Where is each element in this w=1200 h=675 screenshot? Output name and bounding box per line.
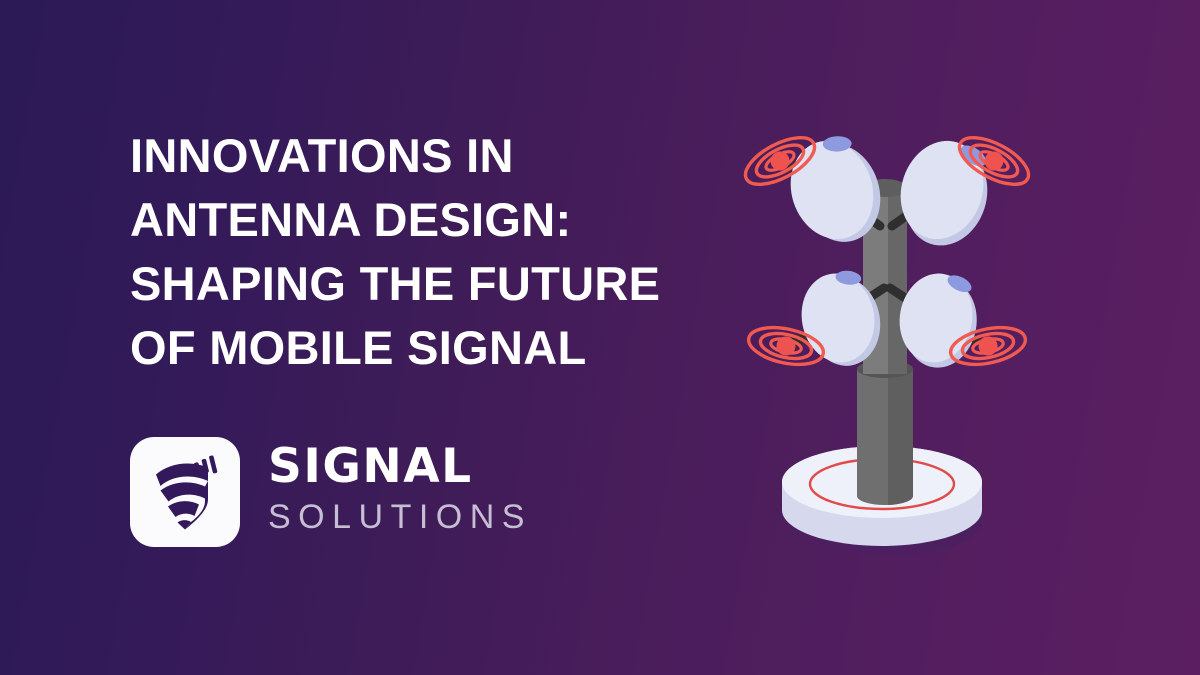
page-title: INNOVATIONS IN ANTENNA DESIGN: SHAPING T…	[130, 124, 720, 380]
logo-badge	[130, 437, 240, 547]
signal-shield-wifi-icon	[146, 450, 224, 535]
antenna-tower-illustration	[740, 128, 1080, 590]
headline-line-1: INNOVATIONS IN	[130, 124, 720, 188]
mast-lower	[857, 360, 913, 505]
logo-wordmark: SIGNAL SOLUTIONS	[268, 444, 532, 541]
headline-block: INNOVATIONS IN ANTENNA DESIGN: SHAPING T…	[130, 124, 720, 380]
headline-line-2: ANTENNA DESIGN:	[130, 188, 720, 252]
brand-name: SIGNAL	[268, 444, 532, 490]
headline-line-3: SHAPING THE FUTURE	[130, 252, 720, 316]
brand-tagline: SOLUTIONS	[268, 496, 532, 539]
banner-canvas: INNOVATIONS IN ANTENNA DESIGN: SHAPING T…	[0, 0, 1200, 675]
headline-line-4: OF MOBILE SIGNAL	[130, 316, 720, 380]
logo-lockup: SIGNAL SOLUTIONS	[130, 437, 532, 547]
